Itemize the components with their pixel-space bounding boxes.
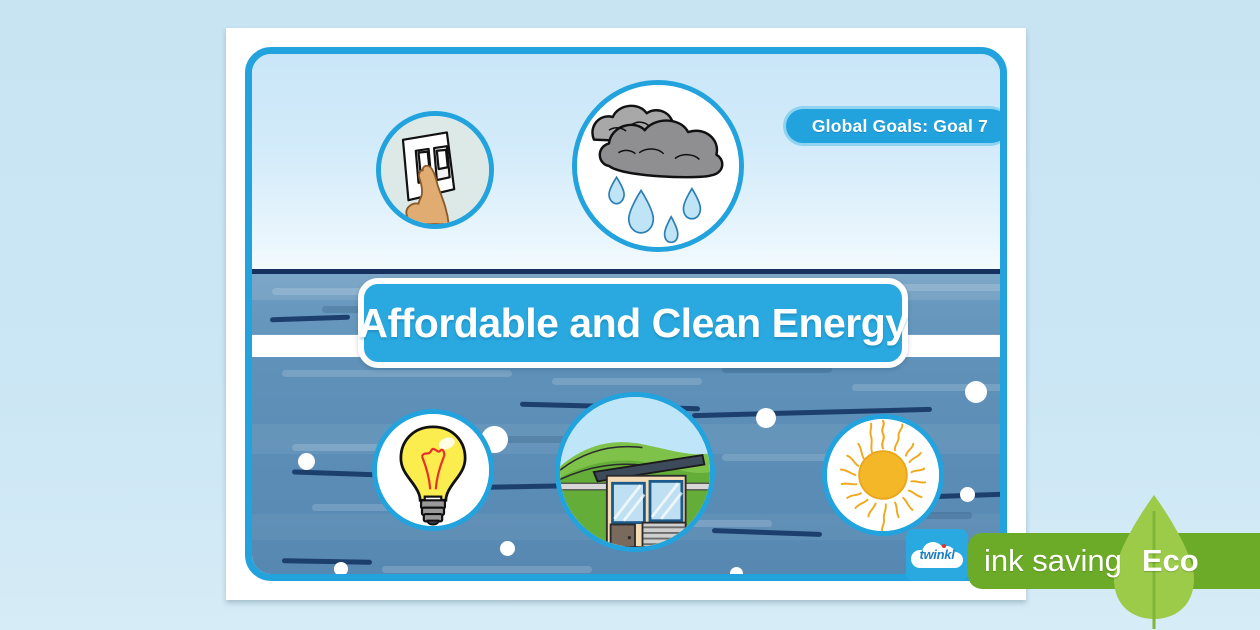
illustration-light-bulb[interactable] bbox=[372, 409, 494, 531]
goal-badge: Global Goals: Goal 7 bbox=[783, 106, 1007, 146]
bubble bbox=[334, 562, 348, 576]
page-title: Affordable and Clean Energy bbox=[358, 300, 907, 347]
goal-badge-label: Global Goals: Goal 7 bbox=[812, 116, 988, 137]
light-switch-icon bbox=[381, 116, 489, 224]
illustration-sun[interactable] bbox=[822, 414, 944, 536]
cloud-icon: twinkl bbox=[911, 540, 963, 570]
eco-label: Eco bbox=[1142, 543, 1199, 579]
bubble bbox=[298, 453, 315, 470]
rain-cloud-icon bbox=[577, 85, 739, 247]
ink-saving-eco-banner: ink saving Eco bbox=[968, 533, 1260, 589]
twinkl-wordmark: twinkl bbox=[911, 547, 963, 562]
bubble bbox=[500, 541, 515, 556]
twinkl-dot bbox=[942, 544, 946, 548]
illustration-eco-house[interactable] bbox=[555, 392, 715, 552]
bubble bbox=[756, 408, 776, 428]
ink-saving-label: ink saving bbox=[984, 543, 1122, 579]
bubble bbox=[965, 381, 987, 403]
twinkl-logo: twinkl bbox=[906, 529, 968, 581]
poster-inner-frame: Affordable and Clean Energy Global Goals… bbox=[245, 47, 1007, 581]
illustration-rain-cloud[interactable] bbox=[572, 80, 744, 252]
bubble bbox=[960, 487, 975, 502]
poster-title-plate: Affordable and Clean Energy bbox=[358, 278, 908, 368]
illustration-light-switch[interactable] bbox=[376, 111, 494, 229]
eco-house-icon bbox=[560, 397, 710, 547]
bubble bbox=[730, 567, 743, 580]
poster-card: Affordable and Clean Energy Global Goals… bbox=[226, 28, 1026, 600]
sun-icon bbox=[827, 419, 939, 531]
light-bulb-icon bbox=[377, 414, 489, 526]
